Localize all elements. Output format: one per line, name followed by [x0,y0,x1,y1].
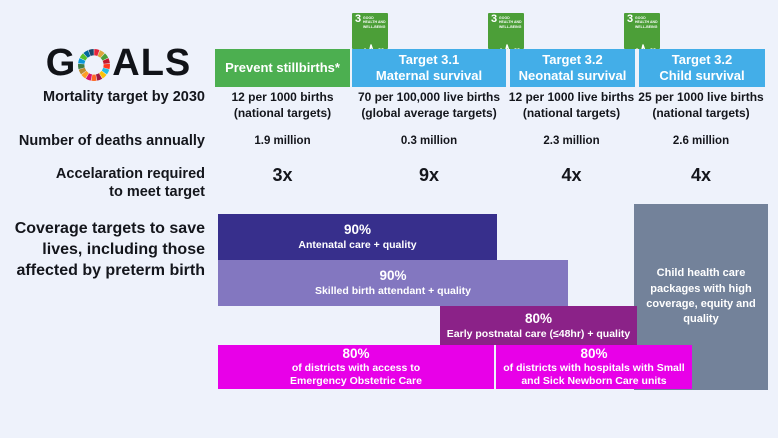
column-header-maternal[interactable]: Target 3.1Maternal survival [352,49,506,87]
column-header-line1: Prevent stillbirths* [225,60,340,75]
coverage-description: of districts with access toEmergency Obs… [290,362,422,388]
infographic-root: GALSMortality target by 2030Number of de… [0,0,778,438]
cell-deaths-child: 2.6 million [637,135,765,147]
coverage-description: Antenatal care + quality [298,239,416,252]
row-label-acceleration-required: Accelaration requiredto meet target [56,166,205,201]
coverage-percent: 80% [525,311,552,327]
row-label-number-of-deaths: Number of deaths annually [19,133,205,151]
sdg-goal-3-icon: 3GOOD HEALTH AND WELL-BEING [352,13,388,49]
coverage-percent: 80% [580,346,607,362]
sdg-icon-caption: GOOD HEALTH AND WELL-BEING [363,16,386,29]
column-header-child[interactable]: Target 3.2Child survival [637,49,765,87]
cell-mortality-target-neonatal: 12 per 1000 live births(national targets… [508,89,635,121]
mortality-value: 12 per 1000 live births [508,89,635,105]
mortality-value: 25 per 1000 live births [637,89,765,105]
sdg-icon-number: 3 [627,14,633,25]
column-header-line1: Target 3.2 [542,52,602,67]
mortality-note: (global average targets) [352,105,506,121]
cell-acceleration-maternal: 9x [352,165,506,186]
magenta-bars-divider [494,345,496,389]
column-header-line2: Neonatal survival [519,68,627,83]
sdg-goal-3-icon: 3GOOD HEALTH AND WELL-BEING [624,13,660,49]
sdg-icon-number: 3 [491,14,497,25]
column-header-line2: Maternal survival [376,68,482,83]
coverage-description-line1: of districts with hospitals with Small [503,362,684,374]
column-header-neonatal[interactable]: Target 3.2Neonatal survival [508,49,635,87]
page-title: GALS [26,44,211,82]
coverage-description: Skilled birth attendant + quality [315,285,471,298]
cell-deaths-stillbirths: 1.9 million [215,135,350,147]
cell-acceleration-child: 4x [637,165,765,186]
title-letter-g: G [46,44,77,82]
column-header-line1: Target 3.1 [399,52,459,67]
mortality-note: (national targets) [215,105,350,121]
coverage-bar-newborn-care-units[interactable]: 80%of districts with hospitals with Smal… [496,345,692,389]
row-label-coverage-targets: Coverage targets to savelives, including… [15,219,205,281]
coverage-description-line2: Emergency Obstetric Care [290,375,422,387]
mortality-note: (national targets) [637,105,765,121]
sdg-icon-caption: GOOD HEALTH AND WELL-BEING [499,16,522,29]
mortality-value: 70 per 100,000 live births [352,89,506,105]
sdg-icon-number: 3 [355,14,361,25]
cell-acceleration-stillbirths: 3x [215,165,350,186]
coverage-percent: 80% [342,346,369,362]
cell-mortality-target-maternal: 70 per 100,000 live births(global averag… [352,89,506,121]
row-label-mortality-target: Mortality target by 2030 [43,89,205,107]
cell-mortality-target-stillbirths: 12 per 1000 births(national targets) [215,89,350,121]
coverage-description-line1: of districts with access to [292,362,420,374]
coverage-description: of districts with hospitals with Smallan… [503,362,684,388]
cell-deaths-maternal: 0.3 million [352,135,506,147]
coverage-percent: 90% [344,222,371,238]
coverage-bar-postnatal[interactable]: 80%Early postnatal care (≤48hr) + qualit… [440,306,637,346]
sdg-icon-caption: GOOD HEALTH AND WELL-BEING [635,16,658,29]
mortality-note: (national targets) [508,105,635,121]
coverage-percent: 90% [379,268,406,284]
mortality-value: 12 per 1000 births [215,89,350,105]
column-header-stillbirths[interactable]: Prevent stillbirths* [215,49,350,87]
cell-deaths-neonatal: 2.3 million [508,135,635,147]
sdg-goal-3-icon: 3GOOD HEALTH AND WELL-BEING [488,13,524,49]
coverage-description: Early postnatal care (≤48hr) + quality [447,328,630,341]
coverage-bar-antenatal[interactable]: 90%Antenatal care + quality [218,214,497,260]
coverage-description-line2: and Sick Newborn Care units [521,375,666,387]
sdg-color-wheel-icon [77,48,111,82]
cell-acceleration-neonatal: 4x [508,165,635,186]
column-header-line1: Target 3.2 [672,52,732,67]
coverage-bar-emergency-obstetric[interactable]: 80%of districts with access toEmergency … [218,345,494,389]
coverage-bar-skilled-birth[interactable]: 90%Skilled birth attendant + quality [218,260,568,306]
title-letters-als: ALS [112,44,191,82]
cell-mortality-target-child: 25 per 1000 live births(national targets… [637,89,765,121]
column-header-line2: Child survival [659,68,744,83]
